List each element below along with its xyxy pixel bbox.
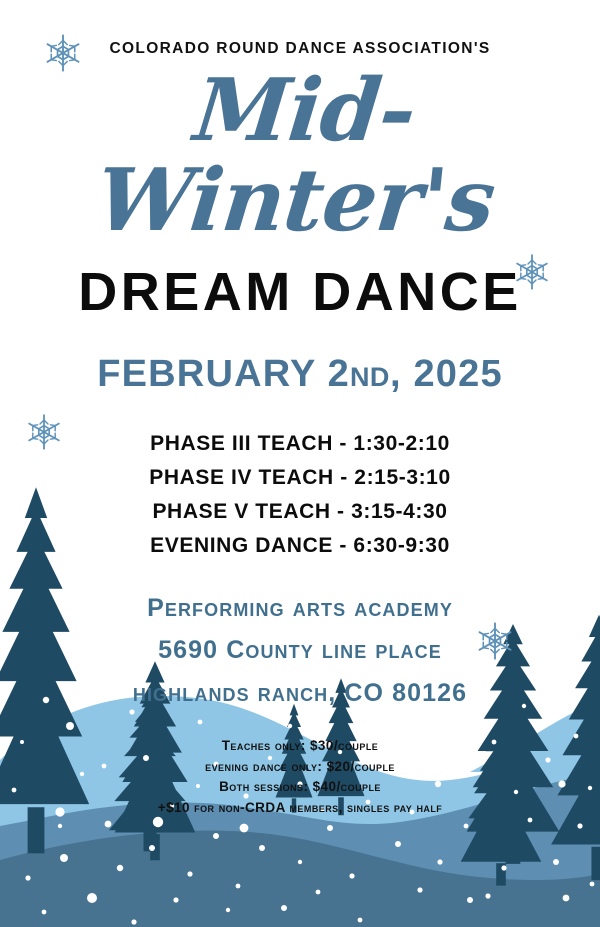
event-date-day: 2 [328,353,350,395]
hill-dark-front [0,830,600,927]
schedule-block: PHASE III TEACH - 1:30-2:10 PHASE IV TEA… [0,427,600,563]
event-date-year: , 2025 [390,353,503,395]
schedule-item: PHASE V TEACH - 3:15-4:30 [0,495,600,529]
event-date: FEBRUARY 2ND, 2025 [0,355,600,393]
venue-block: Performing arts academy 5690 County line… [0,587,600,715]
schedule-item: PHASE III TEACH - 1:30-2:10 [0,427,600,461]
script-title: Mid-Winter's [0,66,600,247]
flyer-poster: COLORADO ROUND DANCE ASSOCIATION'S Mid-W… [0,0,600,927]
event-date-month: FEBRUARY [97,353,327,395]
schedule-item: EVENING DANCE - 6:30-9:30 [0,529,600,563]
venue-city-state-zip: highlands ranch, CO 80126 [0,672,600,715]
pricing-item: Teaches only: $30/couple [0,736,600,757]
flyer-content: COLORADO ROUND DANCE ASSOCIATION'S Mid-W… [0,0,600,818]
venue-street: 5690 County line place [0,629,600,672]
venue-name: Performing arts academy [0,587,600,630]
association-title: COLORADO ROUND DANCE ASSOCIATION'S [109,40,490,58]
pricing-note: +$10 for non-CRDA members, singles pay h… [0,798,600,819]
pricing-item: Both sessions: $40/couple [0,777,600,798]
pricing-item: evening dance only: $20/couple [0,757,600,778]
schedule-item: PHASE IV TEACH - 2:15-3:10 [0,461,600,495]
pricing-block: Teaches only: $30/couple evening dance o… [0,736,600,818]
event-date-ordinal: ND [350,362,390,392]
association-row: COLORADO ROUND DANCE ASSOCIATION'S [0,0,600,58]
main-title: DREAM DANCE [0,265,600,319]
